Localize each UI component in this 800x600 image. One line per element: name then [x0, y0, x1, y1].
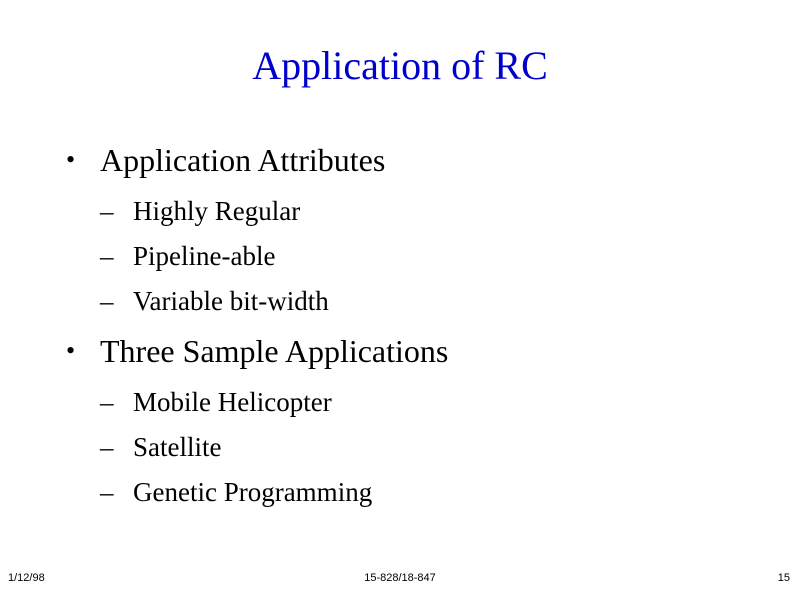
- bullet-dot-icon: •: [66, 138, 75, 182]
- dash-icon: –: [100, 279, 114, 324]
- dash-icon: –: [100, 189, 114, 234]
- slide-body: • Application Attributes – Highly Regula…: [0, 138, 800, 515]
- bullet-level2-label: Variable bit-width: [133, 286, 329, 316]
- bullet-level2-mobile-helicopter: – Mobile Helicopter: [0, 380, 800, 425]
- bullet-level2-variable-bit-width: – Variable bit-width: [0, 279, 800, 324]
- dash-icon: –: [100, 425, 114, 470]
- spacer: [0, 373, 800, 380]
- bullet-level2-pipeline-able: – Pipeline-able: [0, 234, 800, 279]
- bullet-level1-label: Three Sample Applications: [100, 333, 448, 369]
- bullet-level2-highly-regular: – Highly Regular: [0, 189, 800, 234]
- slide: Application of RC • Application Attribut…: [0, 0, 800, 600]
- bullet-level2-label: Pipeline-able: [133, 241, 275, 271]
- footer-course-code: 15-828/18-847: [0, 568, 800, 588]
- bullet-level2-satellite: – Satellite: [0, 425, 800, 470]
- page-title: Application of RC: [0, 42, 800, 90]
- bullet-level2-label: Highly Regular: [133, 196, 300, 226]
- bullet-level2-label: Mobile Helicopter: [133, 387, 332, 417]
- bullet-level1-application-attributes: • Application Attributes: [0, 138, 800, 182]
- spacer: [0, 182, 800, 189]
- bullet-level1-label: Application Attributes: [100, 142, 385, 178]
- bullet-level1-three-sample-applications: • Three Sample Applications: [0, 329, 800, 373]
- slide-footer: 1/12/98 15-828/18-847 15: [0, 568, 800, 588]
- bullet-level2-genetic-programming: – Genetic Programming: [0, 470, 800, 515]
- footer-page-number: 15: [778, 568, 790, 588]
- bullet-level2-label: Genetic Programming: [133, 477, 372, 507]
- dash-icon: –: [100, 234, 114, 279]
- bullet-dot-icon: •: [66, 329, 75, 373]
- dash-icon: –: [100, 470, 114, 515]
- dash-icon: –: [100, 380, 114, 425]
- bullet-level2-label: Satellite: [133, 432, 221, 462]
